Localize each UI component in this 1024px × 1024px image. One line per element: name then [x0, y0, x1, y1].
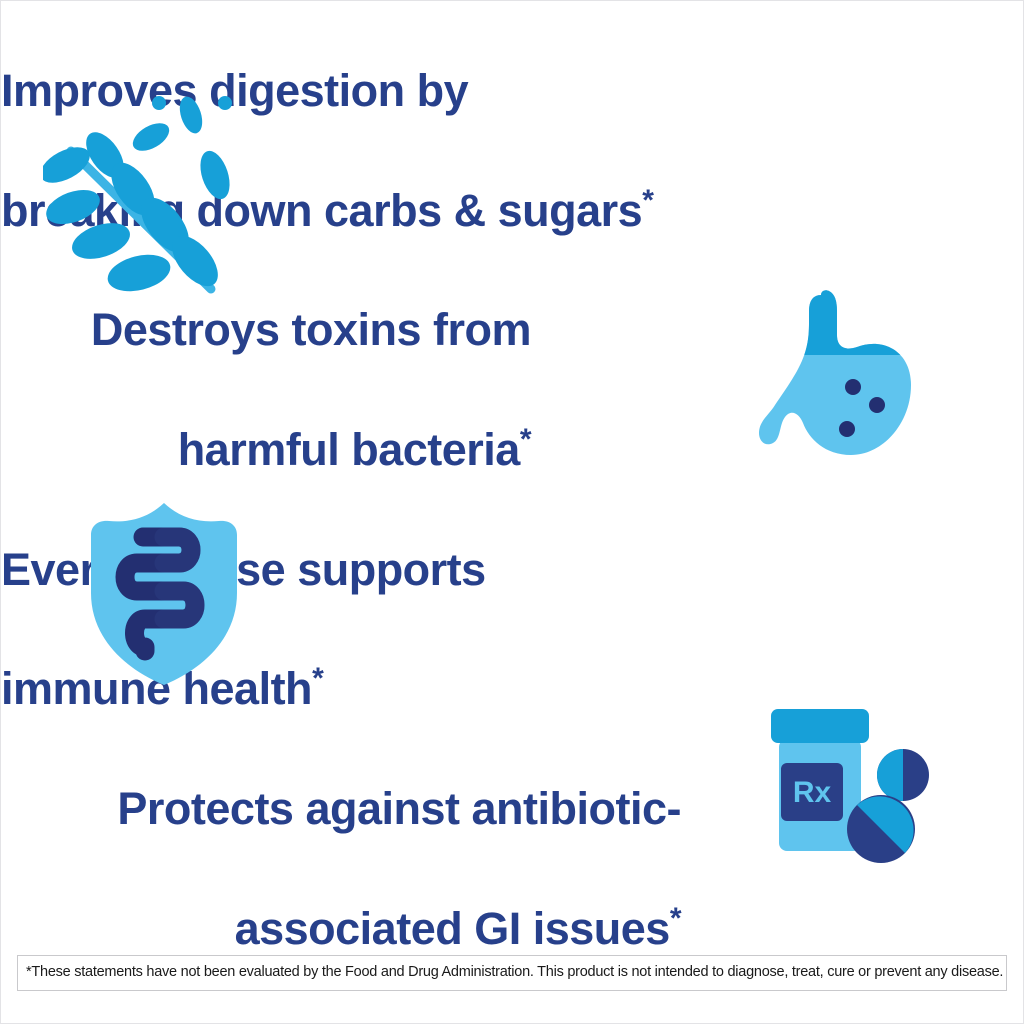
- benefit-line-2: associated GI issues: [235, 903, 670, 954]
- pill-bottle-icon: Rx: [761, 701, 961, 871]
- benefit-line-1: Destroys toxins from: [91, 304, 531, 355]
- infographic-canvas: Improves digestion by breaking down carb…: [0, 0, 1024, 1024]
- benefit-line-2: harmful bacteria: [178, 424, 520, 475]
- footnote-marker: *: [642, 184, 653, 217]
- benefit-text-antibiotic: Protects against antibiotic- associated …: [1, 719, 681, 958]
- pill-bottle-rx-label: Rx: [793, 776, 832, 809]
- grain-sprig-icon: [43, 89, 239, 301]
- benefit-line-1: Protects against antibiotic-: [117, 783, 681, 834]
- footnote-marker: *: [520, 423, 531, 456]
- shield-gut-icon: [71, 501, 257, 687]
- fda-disclaimer-box: *These statements have not been evaluate…: [17, 955, 1007, 991]
- footnote-marker: *: [670, 902, 681, 935]
- footnote-marker: *: [312, 662, 323, 695]
- stomach-icon: [759, 289, 919, 469]
- fda-disclaimer-text: *These statements have not been evaluate…: [26, 965, 1003, 981]
